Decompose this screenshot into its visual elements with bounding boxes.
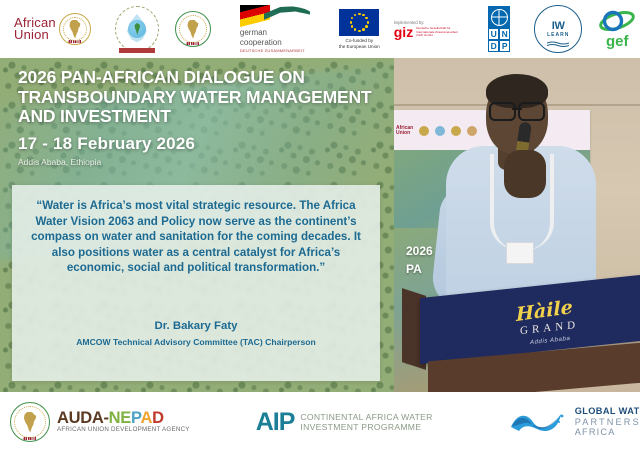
quote-card: “Water is Africa’s most vital strategic … xyxy=(12,185,380,381)
eu-star-icon xyxy=(365,25,368,28)
podium: Hàile GRAND Addis Ababa xyxy=(420,286,640,392)
logo-undp: U N D P xyxy=(482,6,516,52)
gwp-line1: GLOBAL WATER xyxy=(575,406,640,417)
aip-line1: CONTINENTAL AFRICA WATER xyxy=(300,412,432,423)
german-coop-line2: cooperation xyxy=(240,39,310,48)
logo-aip: AIP CONTINENTAL AFRICA WATER INVESTMENT … xyxy=(256,410,433,435)
event-title: 2026 PAN-AFRICAN DIALOGUE ON TRANSBOUNDA… xyxy=(18,68,378,127)
eu-flag-icon xyxy=(339,9,379,36)
backdrop-logo-dot xyxy=(435,126,445,136)
edc-caption-bar xyxy=(119,48,155,53)
eyeglasses-icon xyxy=(489,102,545,117)
iw-learn-icon: IW LEARN xyxy=(534,5,582,53)
undp-letters: U N D P xyxy=(488,28,510,52)
backdrop-logo-dot xyxy=(419,126,429,136)
eu-star-icon xyxy=(362,28,365,31)
partner-logo-bar: African Union xyxy=(0,0,640,58)
quote-text: “Water is Africa’s most vital strategic … xyxy=(12,185,380,276)
logo-gwp-africa: GLOBAL WATER PARTNERSHIP AFRICA xyxy=(509,406,640,438)
footer-logo-bar: AUDA-NEPAD AFRICAN UNION DEVELOPMENT AGE… xyxy=(0,392,640,452)
logo-african-union-roundel xyxy=(175,11,211,47)
logo-every-drop-counts xyxy=(115,6,159,52)
every-drop-counts-icon xyxy=(115,6,159,52)
undp-letter-p: P xyxy=(499,40,510,52)
wave-icon xyxy=(547,41,569,47)
african-union-emblem-icon xyxy=(59,13,91,45)
iw-learn-word: IW xyxy=(552,21,565,32)
logo-giz: implemented by: giz Deutsche Gesellschaf… xyxy=(394,20,460,38)
eu-star-icon xyxy=(362,14,365,17)
logo-african-union: African Union xyxy=(14,13,91,45)
auda-nepad-word-part: D xyxy=(152,409,164,427)
logo-auda-nepad: AUDA-NEPAD AFRICAN UNION DEVELOPMENT AGE… xyxy=(10,402,190,442)
backdrop-logo-row: AfricanUnion xyxy=(396,126,477,136)
auda-nepad-word-part: A xyxy=(140,409,152,427)
event-poster: African Union xyxy=(0,0,640,452)
au-band-icon xyxy=(186,42,199,46)
africa-map-icon xyxy=(185,20,200,39)
eu-caption-line2: the European Union xyxy=(339,44,380,50)
eu-star-icon xyxy=(354,14,357,17)
eu-star-icon xyxy=(350,21,353,24)
german-flag-icon xyxy=(240,5,310,27)
event-dates: 17 - 18 February 2026 xyxy=(18,134,195,154)
gwp-line2: PARTNERSHIP xyxy=(575,417,640,428)
eu-star-icon xyxy=(351,25,354,28)
gef-wordmark: gef xyxy=(606,35,629,49)
eu-star-icon xyxy=(354,28,357,31)
quote-author: Dr. Bakary Faty xyxy=(12,320,380,332)
logo-gef: gef xyxy=(598,10,636,49)
auda-au-emblem-icon xyxy=(10,402,50,442)
speaker-photo: AfricanUnion 2026 PA W Ma xyxy=(394,58,640,392)
event-location: Addis Ababa, Ethiopia xyxy=(18,157,101,167)
backdrop-text-2026: 2026 xyxy=(406,244,433,258)
au-band-icon xyxy=(68,40,81,44)
eu-star-icon xyxy=(358,13,361,16)
eu-star-icon xyxy=(365,17,368,20)
un-emblem-icon xyxy=(488,6,510,28)
african-union-wordmark: African Union xyxy=(14,17,56,42)
giz-subtext: Deutsche Gesellschaft fur Internationale… xyxy=(416,27,460,38)
au-roundel-icon xyxy=(175,11,211,47)
au-band-icon xyxy=(24,437,37,441)
africa-map-icon xyxy=(67,20,82,39)
logo-iw-learn: IW LEARN xyxy=(534,5,582,53)
africa-map-icon xyxy=(22,412,39,433)
aip-line2: INVESTMENT PROGRAMME xyxy=(300,422,432,433)
auda-nepad-word-part: AUDA- xyxy=(57,409,109,427)
speaker-badge xyxy=(506,242,534,264)
gwp-line3: AFRICA xyxy=(575,427,640,438)
quote-author-role: AMCOW Technical Advisory Committee (TAC)… xyxy=(12,337,380,347)
logo-european-union: Co-funded by the European Union xyxy=(339,9,380,49)
backdrop-au-text: AfricanUnion xyxy=(396,126,413,136)
german-coop-line1: german xyxy=(240,29,310,38)
globe-icon xyxy=(128,20,146,38)
undp-letter-d: D xyxy=(488,40,499,52)
auda-nepad-wordmark: AUDA-NEPAD xyxy=(57,410,190,426)
undp-letter-n: N xyxy=(499,28,510,40)
iw-learn-sub: LEARN xyxy=(547,32,569,38)
auda-nepad-subtitle: AFRICAN UNION DEVELOPMENT AGENCY xyxy=(57,426,190,434)
backdrop-logo-dot xyxy=(467,126,477,136)
eu-star-icon xyxy=(367,21,370,24)
eu-star-icon xyxy=(358,30,361,33)
backdrop-logo-dot xyxy=(451,126,461,136)
backdrop-text-pa: PA xyxy=(406,262,422,276)
undp-letter-u: U xyxy=(488,28,499,40)
gwp-wave-icon xyxy=(509,407,569,437)
logo-german-cooperation: german cooperation DEUTSCHE ZUSAMMENARBE… xyxy=(233,5,317,54)
german-coop-sub: DEUTSCHE ZUSAMMENARBEIT xyxy=(240,48,310,54)
giz-wordmark: giz xyxy=(394,27,413,38)
hero-section: 2026 PAN-AFRICAN DIALOGUE ON TRANSBOUNDA… xyxy=(0,58,640,392)
auda-nepad-word-part: NE xyxy=(109,409,131,427)
eu-star-icon xyxy=(351,17,354,20)
speaker-hand xyxy=(504,150,546,198)
au-line2: Union xyxy=(14,29,56,42)
aip-wordmark: AIP xyxy=(256,410,295,435)
